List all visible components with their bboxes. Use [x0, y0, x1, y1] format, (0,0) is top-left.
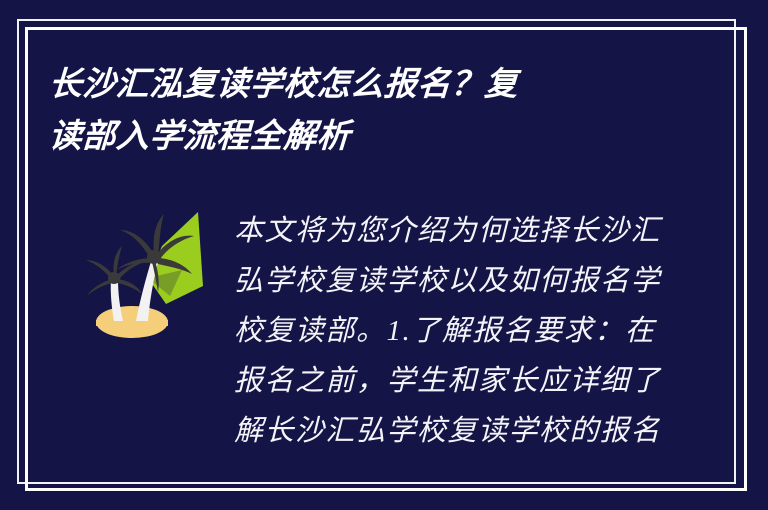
page-title: 长沙汇泓复读学校怎么报名？复 读部入学流程全解析 [49, 58, 649, 162]
body-paragraph: 本文将为您介绍为何选择长沙汇 弘学校复读学校以及如何报名学 校复读部。1.了解报… [234, 206, 654, 456]
body-line-5: 解长沙汇弘学校复读学校的报名 [234, 406, 654, 456]
body-line-3: 校复读部。1.了解报名要求：在 [234, 306, 654, 356]
body-line-1: 本文将为您介绍为何选择长沙汇 [234, 206, 654, 256]
poster-canvas: 长沙汇泓复读学校怎么报名？复 读部入学流程全解析 [0, 0, 768, 510]
palm-tree-icon [70, 200, 210, 340]
title-line-2: 读部入学流程全解析 [48, 110, 651, 162]
title-line-1: 长沙汇泓复读学校怎么报名？复 [48, 58, 651, 110]
body-line-2: 弘学校复读学校以及如何报名学 [234, 256, 654, 306]
body-line-4: 报名之前，学生和家长应详细了 [234, 356, 654, 406]
